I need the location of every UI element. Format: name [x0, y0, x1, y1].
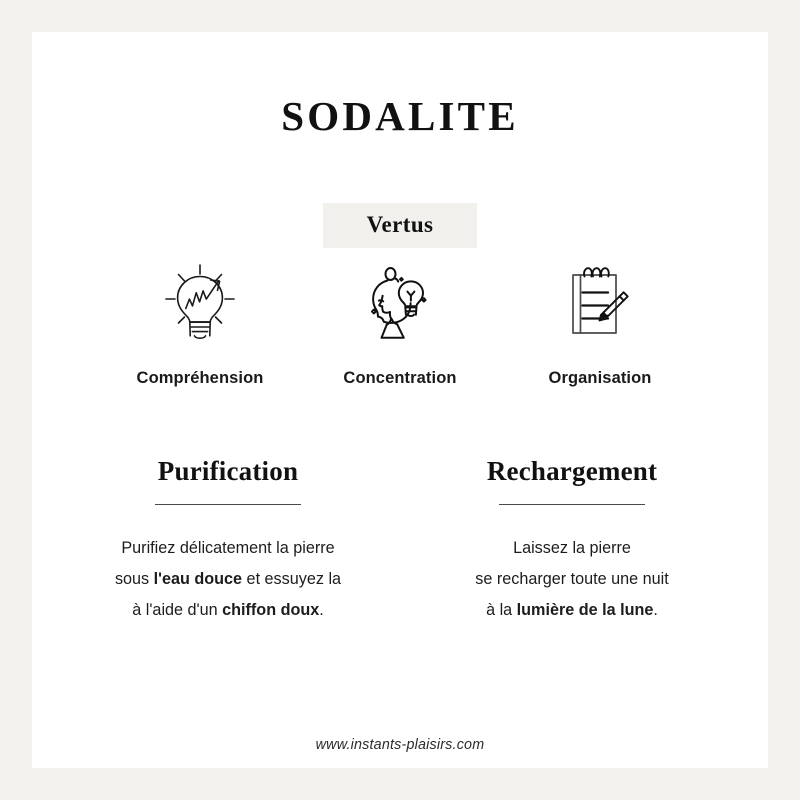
care-text: se recharger toute une nuit	[475, 570, 668, 588]
care-line: à la lumière de la lune.	[412, 595, 732, 626]
care-body: Laissez la pierre se recharger toute une…	[412, 533, 732, 627]
care-text-bold: chiffon doux	[222, 601, 319, 619]
care-instructions: Purification Purifiez délicatement la pi…	[68, 457, 732, 626]
care-text-bold: l'eau douce	[154, 570, 242, 588]
care-line: se recharger toute une nuit	[412, 564, 732, 595]
care-text: Laissez la pierre	[513, 539, 631, 557]
care-divider	[499, 504, 645, 505]
website-footer: www.instants-plaisirs.com	[32, 737, 768, 753]
care-divider	[155, 504, 301, 505]
info-card: SODALITE Vertus	[32, 32, 768, 768]
notepad-pencil-icon	[500, 260, 700, 346]
head-profile-lightbulb-icon	[300, 260, 500, 346]
care-line: à l'aide d'un chiffon doux.	[68, 595, 388, 626]
virtue-item: Organisation	[500, 260, 700, 388]
lightbulb-growth-arrow-icon	[100, 260, 300, 346]
care-line: sous l'eau douce et essuyez la	[68, 564, 388, 595]
virtue-label: Compréhension	[100, 369, 300, 388]
virtues-list: Compréhension	[100, 260, 700, 388]
care-text: sous	[115, 570, 154, 588]
care-text: et essuyez la	[242, 570, 341, 588]
care-column-rechargement: Rechargement Laissez la pierre se rechar…	[412, 457, 732, 626]
page-frame: SODALITE Vertus	[0, 0, 800, 800]
virtue-label: Concentration	[300, 369, 500, 388]
virtue-item: Concentration	[300, 260, 500, 388]
care-text: .	[653, 601, 658, 619]
page-title: SODALITE	[32, 96, 768, 137]
virtues-badge-wrap: Vertus	[32, 203, 768, 248]
care-text: à l'aide d'un	[132, 601, 222, 619]
care-line: Purifiez délicatement la pierre	[68, 533, 388, 564]
care-text: .	[319, 601, 324, 619]
virtues-badge: Vertus	[323, 203, 478, 248]
care-body: Purifiez délicatement la pierre sous l'e…	[68, 533, 388, 627]
virtue-label: Organisation	[500, 369, 700, 388]
care-title: Purification	[68, 457, 388, 487]
care-text: Purifiez délicatement la pierre	[121, 539, 334, 557]
care-text: à la	[486, 601, 517, 619]
care-text-bold: lumière de la lune	[517, 601, 654, 619]
care-line: Laissez la pierre	[412, 533, 732, 564]
care-column-purification: Purification Purifiez délicatement la pi…	[68, 457, 388, 626]
virtue-item: Compréhension	[100, 260, 300, 388]
care-title: Rechargement	[412, 457, 732, 487]
